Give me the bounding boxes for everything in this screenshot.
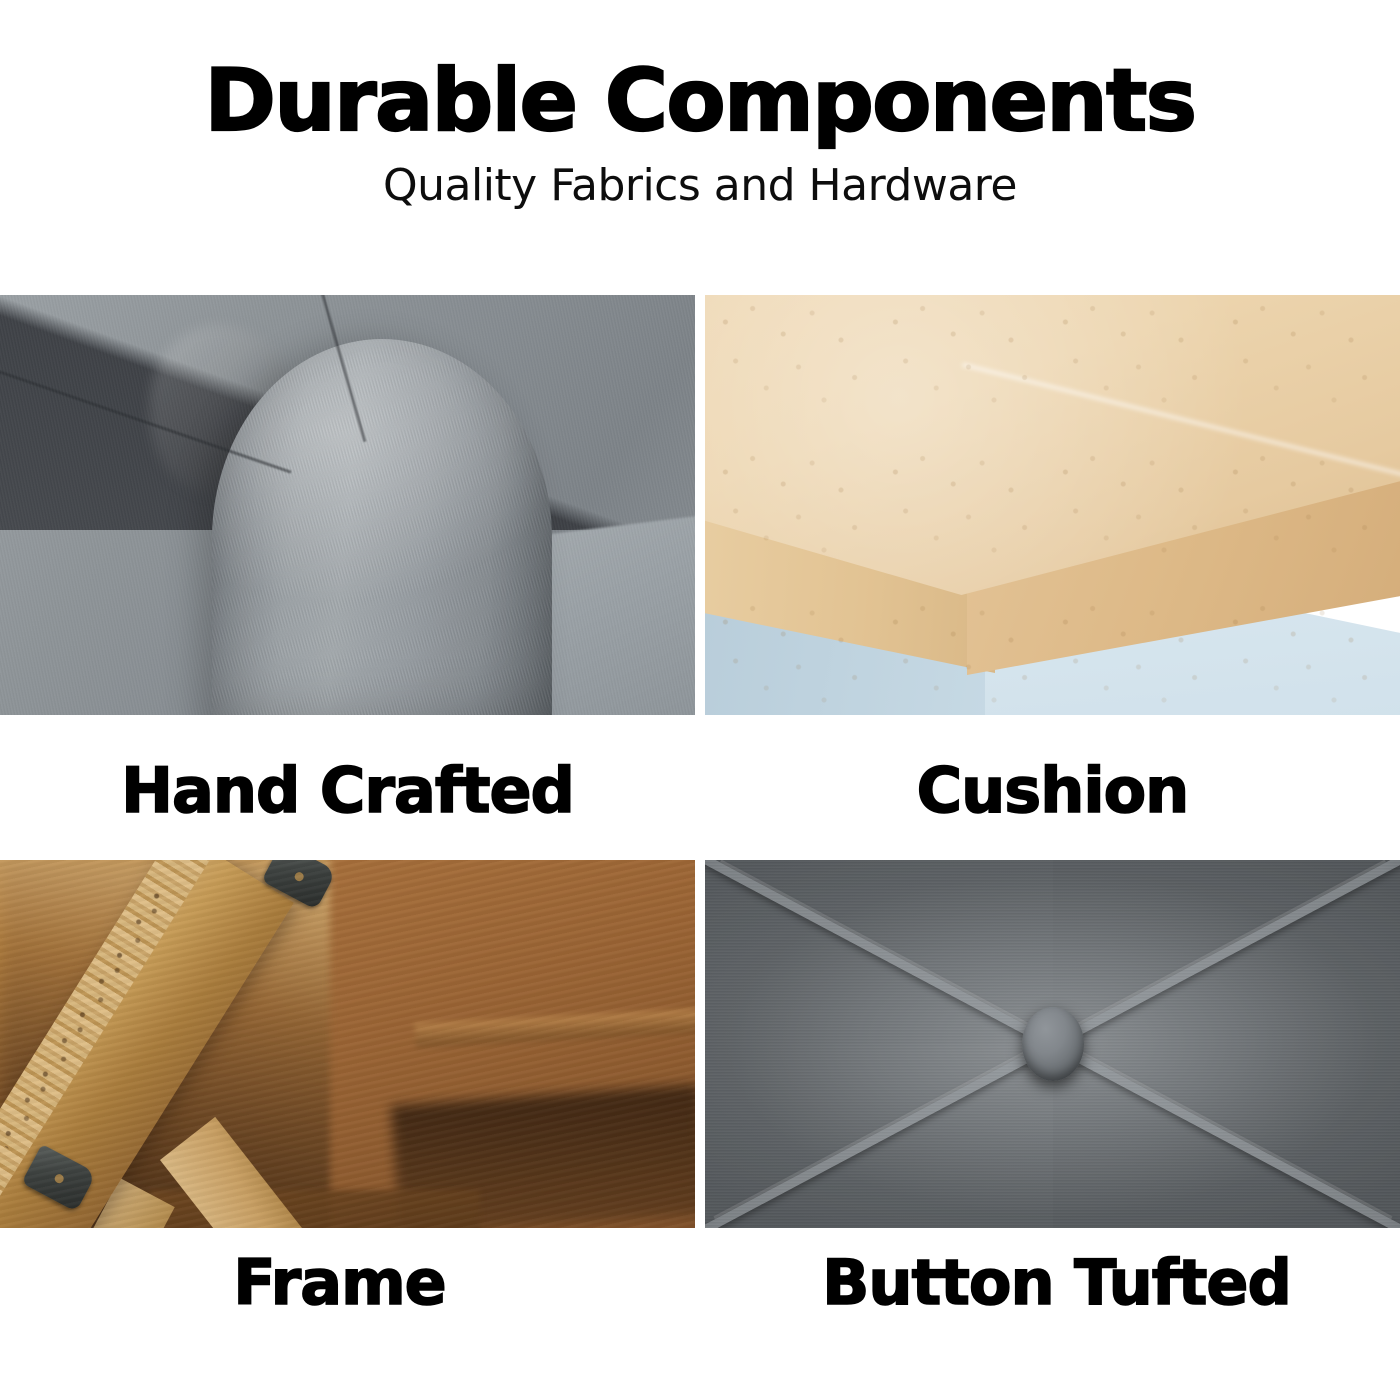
- feature-grid: Hand Crafted Cushion: [0, 295, 1400, 1330]
- caption-hand-crafted: Hand Crafted: [0, 715, 695, 860]
- caption-cushion: Cushion: [705, 715, 1400, 860]
- caption-gutter-bottom: [695, 1228, 705, 1330]
- page-title: Durable Components: [0, 58, 1400, 144]
- header: Durable Components Quality Fabrics and H…: [0, 0, 1400, 208]
- panel-image-cushion: [705, 295, 1400, 715]
- upholstery-button: [1022, 1007, 1084, 1081]
- rolled-arm-bolster: [212, 339, 552, 715]
- grid-gutter-vertical-top: [695, 295, 705, 715]
- grid-gutter-vertical-bottom: [695, 860, 705, 1228]
- caption-button-tufted: Button Tufted: [705, 1228, 1400, 1330]
- panel-image-frame: [0, 860, 695, 1228]
- caption-gutter-top: [695, 715, 705, 860]
- panel-image-button-tufted: [705, 860, 1400, 1228]
- infographic-page: Durable Components Quality Fabrics and H…: [0, 0, 1400, 1400]
- caption-frame: Frame: [0, 1228, 695, 1330]
- page-subtitle: Quality Fabrics and Hardware: [0, 164, 1400, 208]
- panel-image-hand-crafted: [0, 295, 695, 715]
